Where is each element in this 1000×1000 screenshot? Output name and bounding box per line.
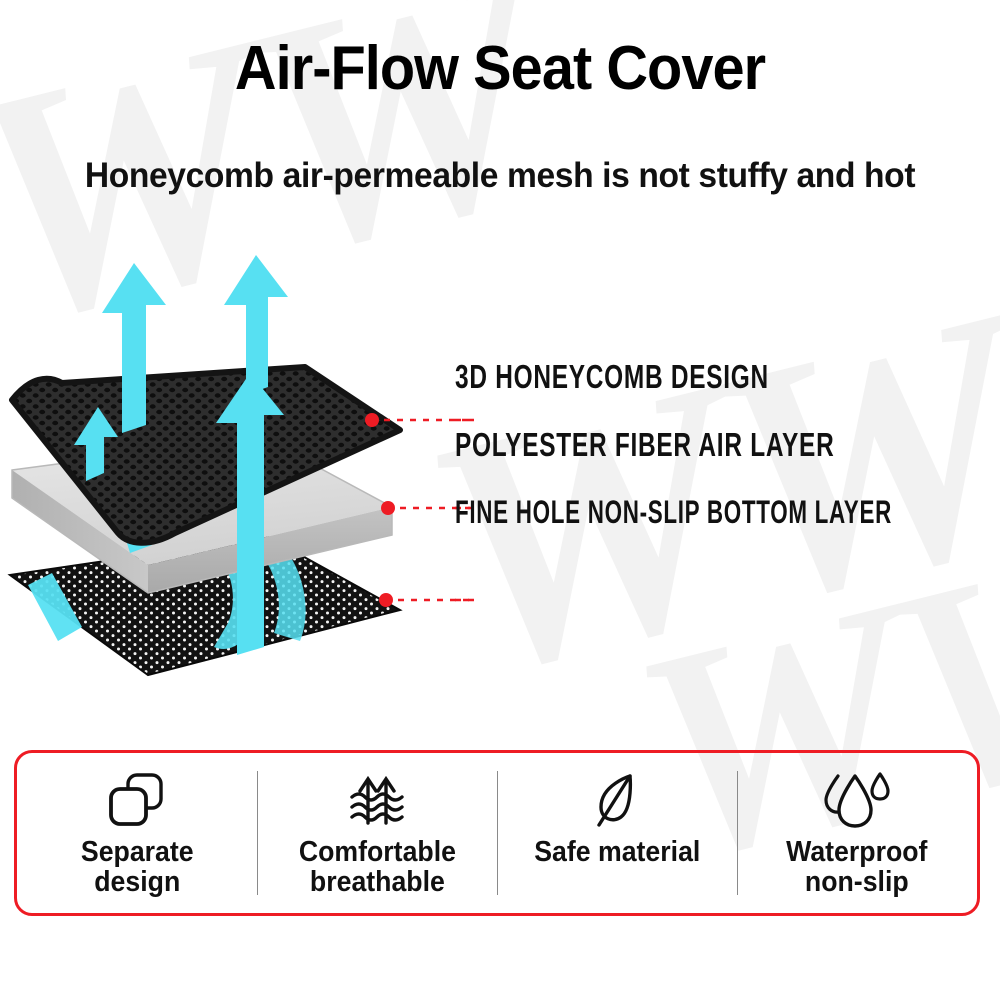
connector-dot bbox=[381, 501, 395, 515]
exploded-layer-diagram bbox=[0, 255, 470, 685]
feature-waterproof-nonslip: Waterproof non-slip bbox=[737, 753, 977, 913]
feature-label: Separate design bbox=[81, 837, 194, 898]
callout-label-bottom: FINE HOLE NON-SLIP BOTTOM LAYER bbox=[455, 496, 837, 528]
infographic-page: WW WW WW Air-Flow Seat Cover Honeycomb a… bbox=[0, 0, 1000, 1000]
feature-label: Safe material bbox=[534, 837, 700, 867]
callout-label-polyester: POLYESTER FIBER AIR LAYER bbox=[455, 428, 858, 461]
feature-label: Comfortable breathable bbox=[298, 837, 455, 898]
two-rounded-squares-icon bbox=[106, 767, 168, 833]
feature-bar: Separate design Comfortable breathable bbox=[14, 750, 980, 916]
connector-dot bbox=[379, 593, 393, 607]
feature-comfortable-breathable: Comfortable breathable bbox=[257, 753, 497, 913]
feature-safe-material: Safe material bbox=[497, 753, 737, 913]
callout-label-list: 3D HONEYCOMB DESIGN POLYESTER FIBER AIR … bbox=[455, 360, 1000, 528]
feature-separate-design: Separate design bbox=[17, 753, 257, 913]
connector-dot bbox=[365, 413, 379, 427]
airflow-waves-icon bbox=[346, 767, 408, 833]
water-droplets-icon bbox=[822, 767, 892, 833]
page-title: Air-Flow Seat Cover bbox=[35, 38, 965, 100]
leaf-icon bbox=[589, 767, 645, 833]
page-subtitle: Honeycomb air-permeable mesh is not stuf… bbox=[20, 158, 980, 193]
feature-label: Waterproof non-slip bbox=[786, 837, 927, 898]
callout-label-honeycomb: 3D HONEYCOMB DESIGN bbox=[455, 360, 858, 393]
